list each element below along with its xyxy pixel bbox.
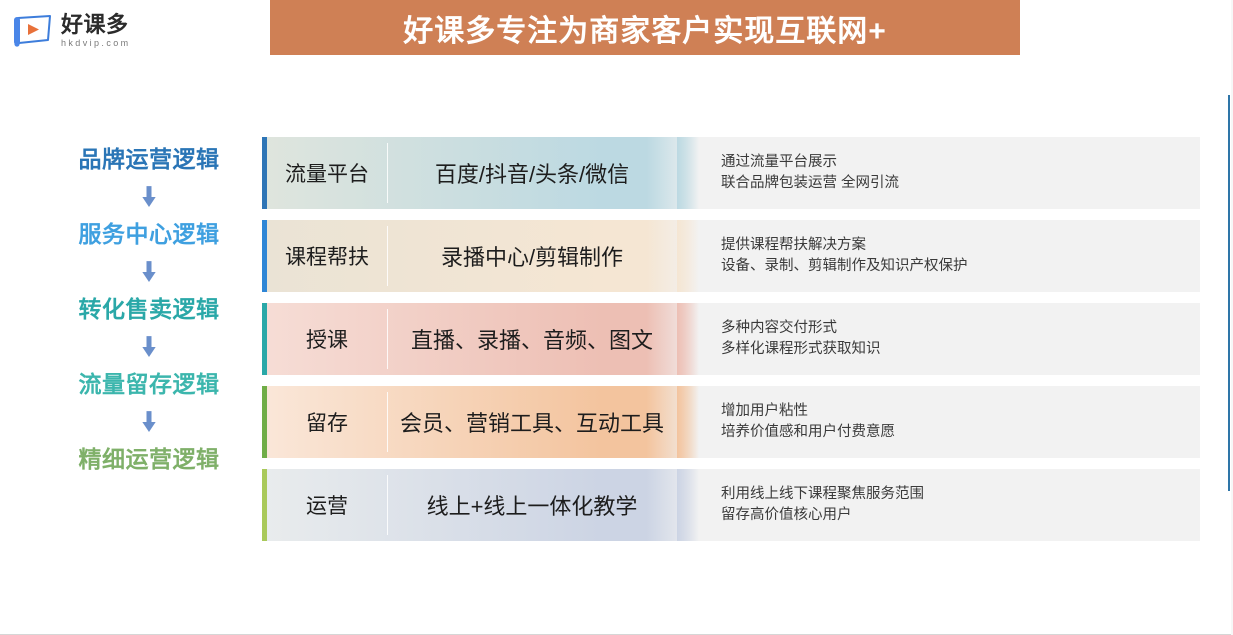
flag-play-logo-icon (12, 14, 54, 48)
cell-divider (387, 226, 388, 286)
brand-name: 好课多 (61, 14, 131, 36)
row-color-block: 流量平台 百度/抖音/头条/微信 (262, 137, 699, 209)
logic-step-label: 精细运营逻辑 (40, 440, 258, 478)
cell-divider (387, 309, 388, 369)
page-title: 好课多专注为商家客户实现互联网+ (403, 6, 887, 50)
table-row: 课程帮扶 录播中心/剪辑制作 提供课程帮扶解决方案 设备、录制、剪辑制作及知识产… (262, 220, 1200, 292)
logic-step-5: 精细运营逻辑 (40, 440, 258, 478)
row-stage: 运营 (267, 469, 387, 541)
cell-divider (387, 392, 388, 452)
row-description: 通过流量平台展示 联合品牌包装运营 全网引流 (699, 137, 1200, 209)
description-line: 培养价值感和用户付费意愿 (721, 422, 1200, 443)
table-row: 留存 会员、营销工具、互动工具 增加用户粘性 培养价值感和用户付费意愿 (262, 386, 1200, 458)
title-banner: 好课多专注为商家客户实现互联网+ (270, 0, 1020, 55)
logic-step-2: 服务中心逻辑 (40, 215, 258, 253)
slide-header: 好课多 hkdvip.com 好课多专注为商家客户实现互联网+ (0, 0, 1233, 72)
logic-flow-column: 品牌运营逻辑 服务中心逻辑 转化售卖逻辑 流量留存逻辑 (40, 140, 258, 478)
arrow-down-icon (40, 403, 258, 440)
description-line: 利用线上线下课程聚焦服务范围 (721, 484, 1200, 505)
cell-divider (387, 475, 388, 535)
row-description: 利用线上线下课程聚焦服务范围 留存高价值核心用户 (699, 469, 1200, 541)
stage-table: 流量平台 百度/抖音/头条/微信 通过流量平台展示 联合品牌包装运营 全网引流 … (262, 137, 1200, 552)
row-color-block: 留存 会员、营销工具、互动工具 (262, 386, 699, 458)
description-line: 提供课程帮扶解决方案 (721, 235, 1200, 256)
logic-step-1: 品牌运营逻辑 (40, 140, 258, 178)
row-stage: 授课 (267, 303, 387, 375)
description-line: 设备、录制、剪辑制作及知识产权保护 (721, 256, 1200, 277)
row-description: 提供课程帮扶解决方案 设备、录制、剪辑制作及知识产权保护 (699, 220, 1200, 292)
row-detail: 录播中心/剪辑制作 (387, 220, 677, 292)
description-line: 联合品牌包装运营 全网引流 (721, 173, 1200, 194)
row-stage: 流量平台 (267, 137, 387, 209)
brand-domain: hkdvip.com (61, 39, 131, 48)
arrow-down-icon (40, 253, 258, 290)
table-row: 授课 直播、录播、音频、图文 多种内容交付形式 多样化课程形式获取知识 (262, 303, 1200, 375)
slide-edge-marker (1228, 95, 1230, 491)
logic-step-label: 流量留存逻辑 (40, 365, 258, 403)
arrow-down-icon (40, 178, 258, 215)
logic-step-4: 流量留存逻辑 (40, 365, 258, 403)
table-row: 流量平台 百度/抖音/头条/微信 通过流量平台展示 联合品牌包装运营 全网引流 (262, 137, 1200, 209)
row-description: 增加用户粘性 培养价值感和用户付费意愿 (699, 386, 1200, 458)
row-color-block: 运营 线上+线上一体化教学 (262, 469, 699, 541)
row-detail: 百度/抖音/头条/微信 (387, 137, 677, 209)
row-color-block: 授课 直播、录播、音频、图文 (262, 303, 699, 375)
description-line: 增加用户粘性 (721, 401, 1200, 422)
description-line: 多样化课程形式获取知识 (721, 339, 1200, 360)
logic-step-3: 转化售卖逻辑 (40, 290, 258, 328)
arrow-down-icon (40, 328, 258, 365)
cell-divider (387, 143, 388, 203)
description-line: 留存高价值核心用户 (721, 505, 1200, 526)
description-line: 通过流量平台展示 (721, 152, 1200, 173)
brand-logo-text: 好课多 hkdvip.com (61, 14, 131, 48)
row-description: 多种内容交付形式 多样化课程形式获取知识 (699, 303, 1200, 375)
row-detail: 直播、录播、音频、图文 (387, 303, 677, 375)
row-detail: 线上+线上一体化教学 (387, 469, 677, 541)
logic-step-label: 服务中心逻辑 (40, 215, 258, 253)
slide-canvas: 好课多 hkdvip.com 好课多专注为商家客户实现互联网+ 品牌运营逻辑 服… (0, 0, 1233, 634)
brand-logo: 好课多 hkdvip.com (12, 8, 152, 54)
row-color-block: 课程帮扶 录播中心/剪辑制作 (262, 220, 699, 292)
table-row: 运营 线上+线上一体化教学 利用线上线下课程聚焦服务范围 留存高价值核心用户 (262, 469, 1200, 541)
logic-step-label: 品牌运营逻辑 (40, 140, 258, 178)
row-stage: 留存 (267, 386, 387, 458)
row-detail: 会员、营销工具、互动工具 (387, 386, 677, 458)
row-stage: 课程帮扶 (267, 220, 387, 292)
logic-step-label: 转化售卖逻辑 (40, 290, 258, 328)
description-line: 多种内容交付形式 (721, 318, 1200, 339)
